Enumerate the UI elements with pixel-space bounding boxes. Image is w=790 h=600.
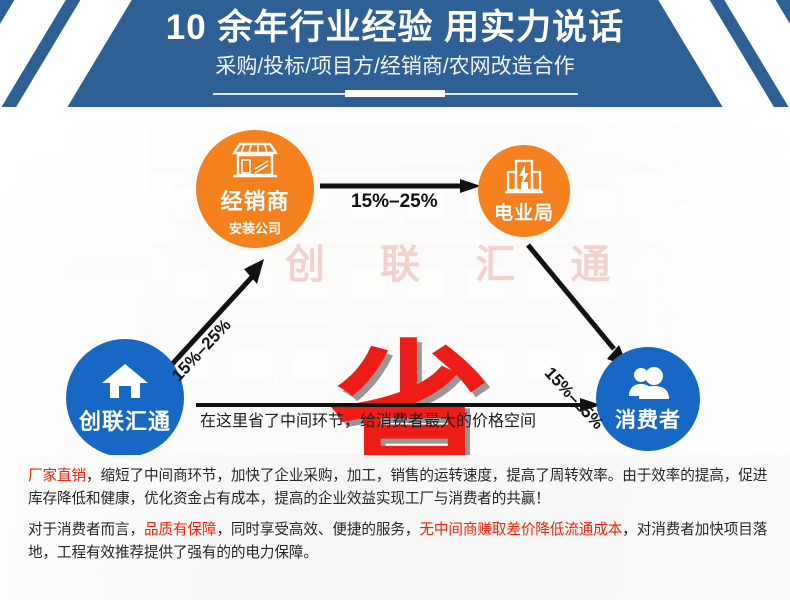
footer-highlight-direct-sales: 厂家直销 (28, 468, 86, 484)
footer-description: 厂家直销，缩短了中间商环节，加快了企业采购，加工，销售的运转速度，提高了周转效率… (0, 455, 790, 600)
storefront-icon (230, 141, 280, 181)
users-icon (625, 365, 671, 401)
diagram-node-power-bureau[interactable]: 电业局 (478, 145, 570, 237)
footer-paragraph-1-rest: ，缩短了中间商环节，加快了企业采购，加工，销售的运转速度，提高了周转效率。由于效… (28, 468, 767, 507)
node-sublabel-dealer: 安装公司 (229, 218, 281, 237)
footer-paragraph-1: 厂家直销，缩短了中间商环节，加快了企业采购，加工，销售的运转速度，提高了周转效率… (28, 465, 770, 511)
node-label-factory: 创联汇通 (79, 404, 171, 436)
node-label-power-bureau: 电业局 (494, 198, 554, 225)
footer-paragraph-2-lead: 对于消费者而言， (28, 522, 144, 538)
arrow-label-dealer-to-bureau: 15%–25% (351, 191, 438, 213)
arrow-up-svg (160, 257, 270, 377)
diagram-node-factory[interactable]: 创联汇通 (66, 339, 184, 455)
node-label-dealer: 经销商 (220, 184, 289, 216)
arrow-down-svg (524, 241, 634, 369)
footer-paragraph-2: 对于消费者而言，品质有保障，同时享受高效、便捷的服务，无中间商赚取差价降低流通成… (28, 519, 770, 565)
savings-character: 省 (330, 339, 490, 455)
arrow-bureau-to-consumer (524, 241, 634, 369)
node-label-consumer: 消费者 (615, 404, 681, 434)
arrow-label-factory-to-consumer: 在这里省了中间环节，给消费者最大的价格空间 (200, 407, 536, 431)
diagram-node-consumer[interactable]: 消费者 (596, 347, 700, 451)
arrow-factory-to-dealer (160, 257, 270, 377)
diagram-node-dealer[interactable]: 经销商 安装公司 (196, 130, 314, 248)
page-header: 10 余年行业经验 用实力说话 采购/投标/项目方/经销商/农网改造合作 (0, 0, 790, 107)
diagram-stage: 创 联 汇 通 省 15%–25% 15%–25% 15%–25% 在这里省了中… (0, 107, 790, 455)
footer-highlight-no-middleman: 无中间商赚取差价降低流通成本 (419, 522, 622, 538)
header-divider-accent (345, 90, 445, 97)
house-icon (100, 361, 150, 401)
header-subtitle: 采购/投标/项目方/经销商/农网改造合作 (0, 54, 790, 80)
header-title: 10 余年行业经验 用实力说话 (0, 8, 790, 48)
footer-paragraph-2-middle: ，同时享受高效、便捷的服务， (216, 522, 419, 538)
power-building-icon (503, 158, 545, 196)
footer-highlight-quality: 品质有保障 (144, 522, 216, 538)
